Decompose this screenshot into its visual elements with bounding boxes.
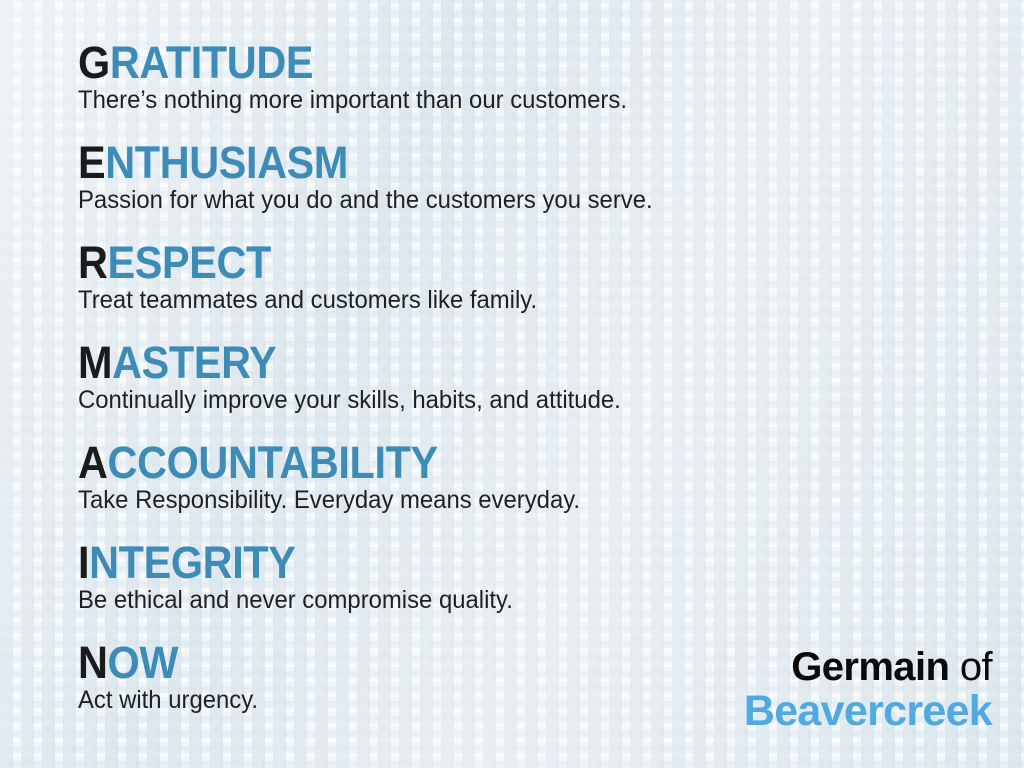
value-rest-letters: RATITUDE [110, 37, 313, 88]
value-item-respect: RESPECT Treat teammates and customers li… [78, 240, 559, 314]
value-word-mastery: MASTERY [78, 340, 601, 386]
logo-connector-word: of [960, 645, 992, 689]
value-lead-letter: A [78, 437, 108, 488]
value-word-accountability: ACCOUNTABILITY [78, 440, 562, 486]
value-lead-letter: M [78, 337, 112, 388]
value-description-gratitude: There’s nothing more important than our … [78, 86, 627, 114]
value-description-accountability: Take Responsibility. Everyday means ever… [78, 486, 580, 514]
value-item-mastery: MASTERY Continually improve your skills,… [78, 340, 646, 414]
value-rest-letters: CCOUNTABILITY [108, 437, 438, 488]
value-rest-letters: OW [108, 637, 179, 688]
logo-location-name: Beavercreek [744, 688, 992, 734]
value-description-mastery: Continually improve your skills, habits,… [78, 386, 621, 414]
value-item-now: NOW Act with urgency. [78, 640, 267, 714]
value-word-enthusiasm: ENTHUSIASM [78, 140, 632, 186]
value-rest-letters: ASTERY [112, 337, 276, 388]
value-word-integrity: INTEGRITY [78, 540, 497, 586]
logo-line-primary: Germain of [744, 646, 992, 688]
value-description-now: Act with urgency. [78, 686, 258, 714]
value-word-respect: RESPECT [78, 240, 520, 286]
value-rest-letters: NTHUSIASM [105, 137, 348, 188]
value-word-gratitude: GRATITUDE [78, 40, 607, 86]
value-item-gratitude: GRATITUDE There’s nothing more important… [78, 40, 653, 114]
value-rest-letters: NTEGRITY [89, 537, 295, 588]
value-item-enthusiasm: ENTHUSIASM Passion for what you do and t… [78, 140, 680, 214]
core-values-poster: GRATITUDE There’s nothing more important… [0, 0, 1024, 768]
logo-connector [949, 645, 960, 689]
value-lead-letter: E [78, 137, 105, 188]
value-description-respect: Treat teammates and customers like famil… [78, 286, 537, 314]
value-lead-letter: N [78, 637, 108, 688]
value-description-enthusiasm: Passion for what you do and the customer… [78, 186, 653, 214]
value-description-integrity: Be ethical and never compromise quality. [78, 586, 513, 614]
value-lead-letter: G [78, 37, 110, 88]
value-item-accountability: ACCOUNTABILITY Take Responsibility. Ever… [78, 440, 604, 514]
logo-brand-name: Germain [791, 645, 949, 689]
value-rest-letters: ESPECT [108, 237, 271, 288]
value-lead-letter: R [78, 237, 108, 288]
value-word-now: NOW [78, 640, 251, 686]
value-item-integrity: INTEGRITY Be ethical and never compromis… [78, 540, 533, 614]
value-lead-letter: I [78, 537, 89, 588]
dealership-logo: Germain of Beavercreek [744, 646, 992, 734]
